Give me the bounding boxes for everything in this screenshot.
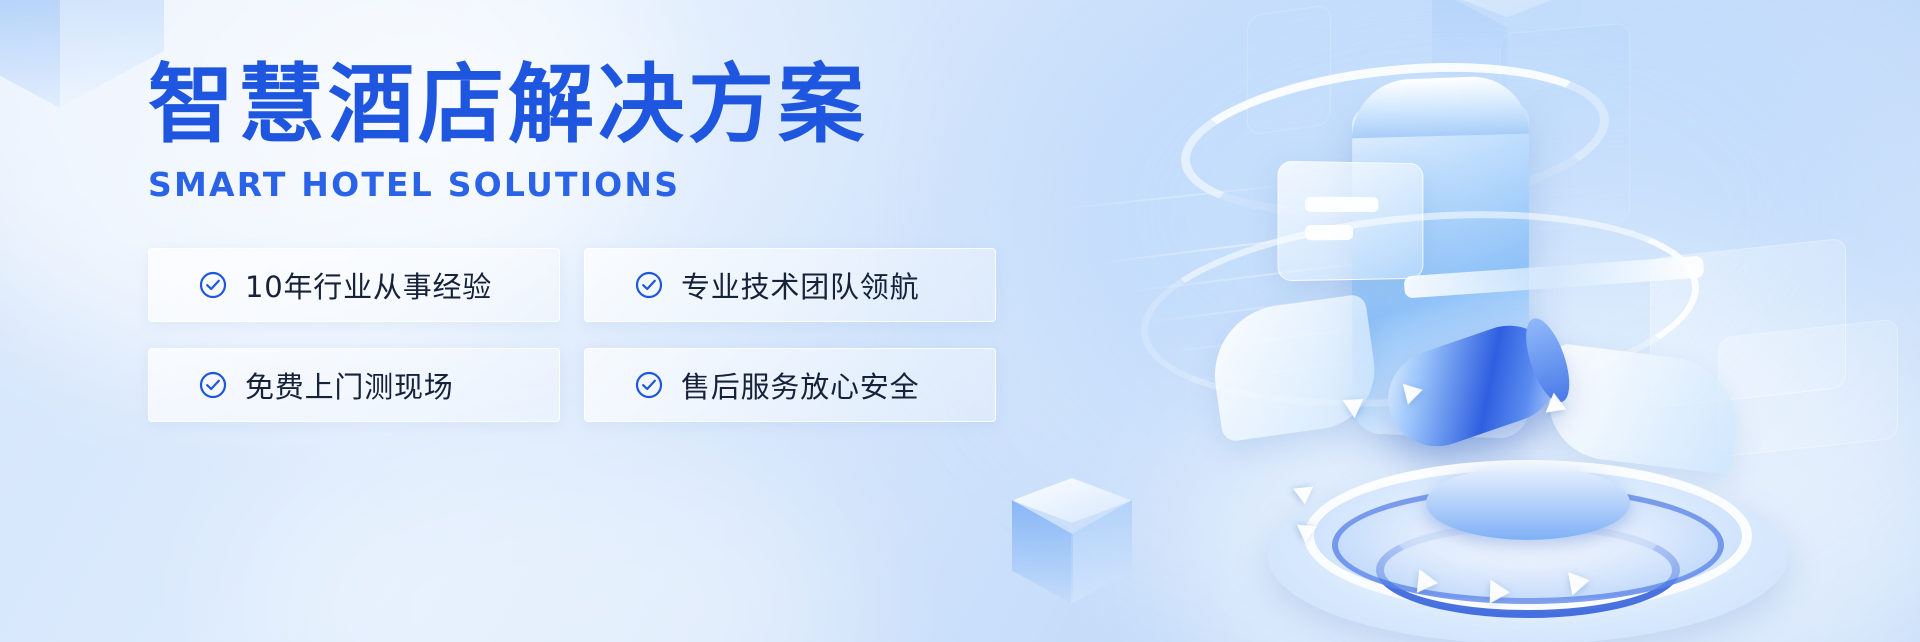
background-panel-right-lower (1718, 319, 1898, 458)
orbit-ring-top-icon (1173, 44, 1616, 236)
background-glow-bottom-right (1180, 300, 1920, 642)
arrow-chevron-icon (1568, 568, 1592, 595)
blue-cylinder-icon (1375, 312, 1571, 459)
feature-list: 10年行业从事经验 专业技术团队领航 免费上门测现场 (148, 248, 1008, 422)
arrow-chevron-icon (1546, 393, 1571, 420)
glass-cube-top-left-icon (0, 0, 164, 112)
feature-label: 免费上门测现场 (245, 364, 454, 406)
radar-dial-base-icon (1268, 394, 1788, 642)
page-title: 智慧酒店解决方案 (148, 60, 1008, 151)
background-grid-line (1180, 356, 1389, 384)
smart-hotel-3d-illustration (1118, 14, 1920, 642)
check-circle-icon (199, 271, 227, 299)
background-panel-small (1247, 4, 1331, 136)
feature-label: 售后服务放心安全 (681, 364, 919, 406)
arrow-chevron-icon (1342, 390, 1369, 418)
glass-cube-bottom-icon (1012, 478, 1132, 606)
feature-label: 10年行业从事经验 (245, 264, 492, 306)
arrow-chevron-icon (1293, 486, 1315, 505)
smart-hotel-banner: 智慧酒店解决方案 SMART HOTEL SOLUTIONS 10年行业从事经验… (0, 0, 1920, 642)
arrow-chevron-icon (1417, 569, 1439, 595)
orbit-ring-middle-icon (1133, 190, 1707, 428)
feature-item-after-sales[interactable]: 售后服务放心安全 (584, 348, 996, 422)
background-glow-center (250, 430, 850, 642)
dial-tick-marks (1384, 468, 1672, 568)
background-panel-tall (1500, 22, 1630, 233)
dial-ring-blue (1376, 522, 1680, 618)
feature-item-site-survey[interactable]: 免费上门测现场 (148, 348, 560, 422)
background-grid-line (1118, 252, 1446, 294)
dial-center-plate (1426, 466, 1630, 540)
card-line-primary (1305, 197, 1378, 212)
background-grid-line (1138, 285, 1436, 324)
background-grid-line (1060, 183, 1299, 210)
feature-label: 专业技术团队领航 (681, 264, 919, 306)
dial-ring-white (1304, 460, 1752, 612)
glass-ribbon-left-curl-icon (1206, 293, 1382, 442)
arrow-chevron-icon (1403, 379, 1426, 404)
floating-card-icon (1278, 161, 1424, 282)
feature-item-experience[interactable]: 10年行业从事经验 (148, 248, 560, 322)
feature-item-team[interactable]: 专业技术团队领航 (584, 248, 996, 322)
dial-outer-disc (1268, 468, 1788, 642)
banner-content: 智慧酒店解决方案 SMART HOTEL SOLUTIONS 10年行业从事经验… (148, 60, 1008, 422)
glass-ribbon-flat-icon (1404, 256, 1705, 299)
check-circle-icon (199, 371, 227, 399)
glass-ribbon-main-icon (1352, 103, 1529, 439)
glass-ribbon-right-curl-icon (1542, 343, 1744, 475)
check-circle-icon (635, 271, 663, 299)
page-subtitle: SMART HOTEL SOLUTIONS (148, 165, 1008, 204)
background-glow-top-right (1010, 0, 1910, 510)
background-grid-line (1098, 229, 1366, 264)
arrow-chevron-icon (1295, 524, 1317, 543)
arrow-chevron-icon (1490, 580, 1511, 605)
dial-ring-inner (1332, 486, 1724, 604)
base-glow (1268, 466, 1808, 642)
card-line-secondary (1305, 225, 1353, 240)
background-grid-line (1160, 322, 1408, 354)
check-circle-icon (635, 371, 663, 399)
glass-cube-top-right-icon (1432, 0, 1582, 110)
background-panel-right-upper (1650, 238, 1846, 409)
